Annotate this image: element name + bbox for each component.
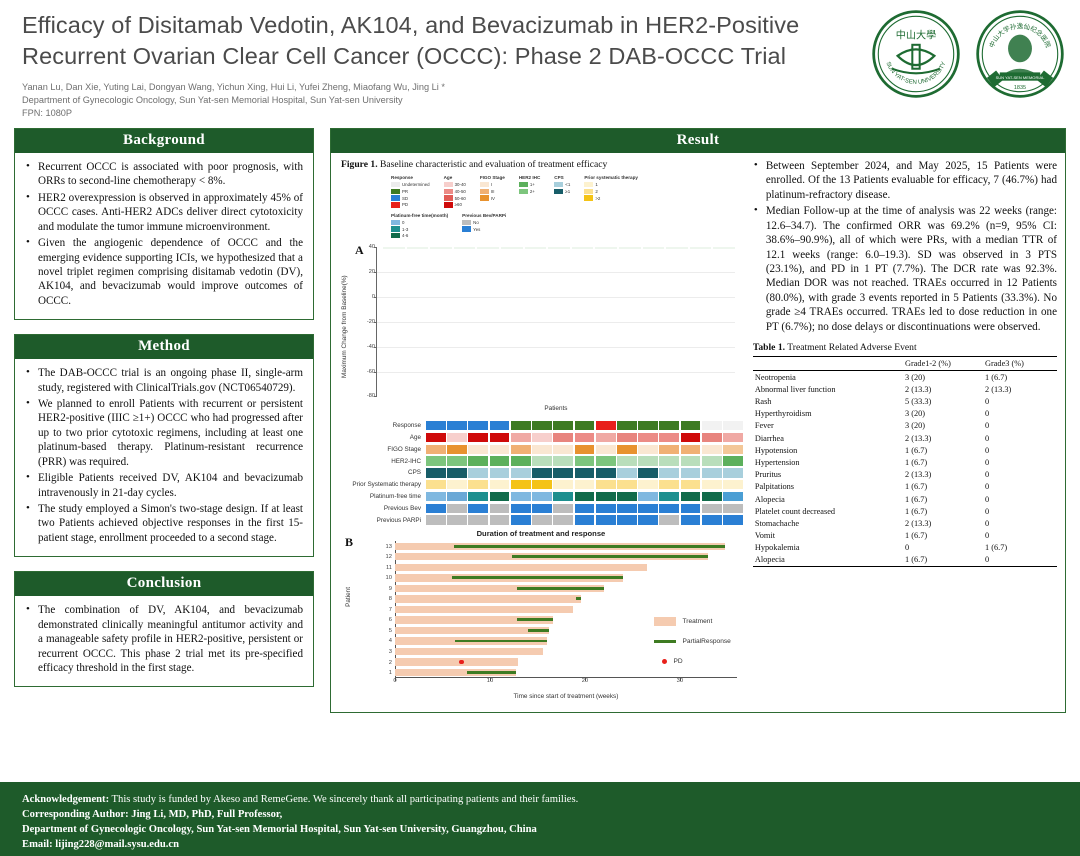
legend-swatch-icon xyxy=(444,195,453,200)
ae-grade3-value: 0 xyxy=(983,444,1057,456)
swimmer-response-bar xyxy=(517,618,553,621)
legend-swatch-icon xyxy=(391,182,400,187)
ae-grade3-value: 0 xyxy=(983,420,1057,432)
waterfall-chart: Maximum Change from Baseline(%) 40200-20… xyxy=(339,243,743,418)
table-row: Alopecia1 (6.7)0 xyxy=(753,554,1057,567)
legend-item: SD xyxy=(391,195,430,201)
legend-swatch-icon xyxy=(584,182,593,187)
legend-item-label: PR xyxy=(402,189,408,194)
legend-item-label: SD xyxy=(402,196,408,201)
ae-grade12-value: 1 (6.7) xyxy=(903,554,983,567)
ae-event-name: Fever xyxy=(753,420,903,432)
heatmap-cell xyxy=(575,456,595,465)
heatmap-cell xyxy=(511,492,531,501)
heatmap-cell xyxy=(490,480,510,489)
heatmap-cell xyxy=(723,504,743,513)
table-row: Stomachache2 (13.3)0 xyxy=(753,517,1057,529)
legend-item: 2+ xyxy=(519,188,540,194)
svg-text:1835: 1835 xyxy=(1014,85,1026,91)
heatmap-cell xyxy=(511,445,531,454)
legend-line-icon xyxy=(654,640,676,643)
heatmap-cells xyxy=(426,515,743,524)
heatmap-cell xyxy=(617,445,637,454)
adverse-event-table-body: Neotropenia3 (20)1 (6.7)Abnormal liver f… xyxy=(753,371,1057,567)
waterfall-y-tick-mark xyxy=(374,272,377,273)
background-panel: Background Recurrent OCCC is associated … xyxy=(14,128,314,320)
heatmap-cell xyxy=(723,515,743,524)
swimmer-lane: 11 xyxy=(395,562,737,573)
legend-item-label: 2 xyxy=(595,189,597,194)
method-bullet-list: The DAB-OCCC trial is an ongoing phase I… xyxy=(25,366,303,545)
poster-header: Efficacy of Disitamab Vedotin, AK104, an… xyxy=(0,0,1080,120)
legend-group-title: Response xyxy=(391,175,430,180)
heatmap-cell xyxy=(511,480,531,489)
ae-grade3-value: 0 xyxy=(983,493,1057,505)
heatmap-cell xyxy=(532,468,552,477)
swimmer-x-axis-label: Time since start of treatment (weeks) xyxy=(395,693,737,700)
heatmap-cell xyxy=(447,515,467,524)
ae-grade12-value: 1 (6.7) xyxy=(903,444,983,456)
heatmap-row-label: Response xyxy=(339,422,426,429)
heatmap-cell xyxy=(490,456,510,465)
legend-group-title: Age xyxy=(444,175,466,180)
heatmap-cell xyxy=(447,421,467,430)
heatmap-cell xyxy=(702,492,722,501)
heatmap-cell xyxy=(447,504,467,513)
heatmap-cell xyxy=(659,468,679,477)
heatmap-cell xyxy=(553,421,573,430)
swimmer-legend-label: PartialResponse xyxy=(682,638,730,645)
result-text-column: Between September 2024, and May 2025, 15… xyxy=(743,159,1057,704)
legend-swatch-icon xyxy=(391,189,400,194)
legend-item-label: Yes xyxy=(473,227,480,232)
heatmap-cell xyxy=(447,480,467,489)
heatmap-cell xyxy=(617,515,637,524)
swimmer-lane: 8 xyxy=(395,594,737,605)
ae-event-name: Abnormal liver function xyxy=(753,383,903,395)
heatmap-cell xyxy=(575,515,595,524)
heatmap-cell xyxy=(638,421,658,430)
heatmap-cell xyxy=(702,515,722,524)
legend-item: ≥60 xyxy=(444,202,466,208)
legend-swatch-icon xyxy=(391,220,400,225)
legend-bar-icon xyxy=(654,617,676,626)
legend-item-label: 40-50 xyxy=(455,189,466,194)
method-panel: Method The DAB-OCCC trial is an ongoing … xyxy=(14,334,314,557)
heatmap-cell xyxy=(617,468,637,477)
heatmap-cell xyxy=(468,445,488,454)
corresponding-author: Corresponding Author: Jing Li, MD, PhD, … xyxy=(22,809,282,820)
legend-item-label: 1+ xyxy=(530,182,535,187)
legend-item-label: 30-40 xyxy=(455,182,466,187)
table-row: Palpitations1 (6.7)0 xyxy=(753,481,1057,493)
heatmap-cell xyxy=(723,492,743,501)
heatmap-cell xyxy=(468,492,488,501)
heatmap-cell xyxy=(532,421,552,430)
heatmap-cell xyxy=(702,468,722,477)
corresponding-email[interactable]: Email: lijing228@mail.sysu.edu.cn xyxy=(22,839,179,850)
legend-item-label: >2 xyxy=(595,196,600,201)
legend-group: ResponseUndeterminedPRSDPD xyxy=(391,175,430,209)
legend-group-title: Previous Bev/PARPi xyxy=(462,213,506,218)
heatmap-row: Previous PARPi xyxy=(339,515,743,526)
waterfall-y-tick-label: 20 xyxy=(357,269,375,275)
heatmap-cell xyxy=(532,504,552,513)
heatmap-cell xyxy=(511,433,531,442)
heatmap-cell xyxy=(575,504,595,513)
heatmap-row: Age xyxy=(339,432,743,443)
legend-group: FIGO StageIIIIIV xyxy=(480,175,505,209)
heatmap-cell xyxy=(511,504,531,513)
table-caption: Table 1. Treatment Related Adverse Event xyxy=(753,342,1057,353)
ae-grade3-value: 0 xyxy=(983,530,1057,542)
heatmap-row-label: HER2-IHC xyxy=(339,458,426,465)
legend-swatch-icon xyxy=(444,189,453,194)
heatmap-cell xyxy=(447,456,467,465)
heatmap-row-label: Previous Bev xyxy=(339,505,426,512)
heatmap-cell xyxy=(659,480,679,489)
legend-swatch-icon xyxy=(480,195,489,200)
heatmap-cell xyxy=(426,468,446,477)
legend-swatch-icon xyxy=(519,182,528,187)
table-row: Hypotension1 (6.7)0 xyxy=(753,444,1057,456)
table-row: Abnormal liver function2 (13.3)2 (13.3) xyxy=(753,383,1057,395)
list-item: Recurrent OCCC is associated with poor p… xyxy=(25,160,303,189)
swimmer-response-bar xyxy=(528,629,549,632)
ae-grade12-value: 2 (13.3) xyxy=(903,469,983,481)
heatmap-cells xyxy=(426,504,743,513)
table-row: Diarrhea2 (13.3)0 xyxy=(753,432,1057,444)
adverse-event-table: Grade1-2 (%) Grade3 (%) Neotropenia3 (20… xyxy=(753,356,1057,567)
heatmap-cell xyxy=(596,445,616,454)
swimmer-y-tick-label: 2 xyxy=(389,660,392,666)
list-item: The study employed a Simon's two-stage d… xyxy=(25,502,303,545)
legend-item: 2 xyxy=(584,188,638,194)
heatmap-cell xyxy=(723,480,743,489)
legend-item: 1 xyxy=(584,182,638,188)
conclusion-heading: Conclusion xyxy=(15,572,313,596)
heatmap-cell xyxy=(702,445,722,454)
waterfall-gridline xyxy=(377,347,735,348)
svg-text:中山大學: 中山大學 xyxy=(896,28,936,41)
background-heading: Background xyxy=(15,129,313,153)
ae-event-name: Diarrhea xyxy=(753,432,903,444)
legend-group-title: Prior systematic therapy xyxy=(584,175,638,180)
heatmap-cell xyxy=(532,492,552,501)
heatmap-cell xyxy=(638,468,658,477)
legend-group-title: HER2 IHC xyxy=(519,175,540,180)
heatmap-cell xyxy=(681,445,701,454)
waterfall-gridline xyxy=(377,322,735,323)
heatmap-cell xyxy=(468,433,488,442)
swimmer-x-tick-label: 30 xyxy=(677,678,683,684)
ae-grade12-value: 2 (13.3) xyxy=(903,383,983,395)
ae-grade12-value: 1 (6.7) xyxy=(903,505,983,517)
heatmap-cell xyxy=(659,504,679,513)
heatmap-cell xyxy=(702,480,722,489)
ae-grade12-value: 1 (6.7) xyxy=(903,456,983,468)
heatmap-cell xyxy=(490,445,510,454)
legend-item-label: IV xyxy=(491,196,495,201)
legend-group-title: Platinum-free time(month) xyxy=(391,213,448,218)
heatmap-cell xyxy=(723,468,743,477)
waterfall-y-tick-label: -40 xyxy=(357,344,375,350)
heatmap-cell xyxy=(553,456,573,465)
legend-item-label: ≥1 xyxy=(565,189,570,194)
waterfall-gridline xyxy=(377,297,735,298)
heatmap-row-label: Prior Systematic therapy xyxy=(339,481,426,488)
ae-event-name: Alopecia xyxy=(753,554,903,567)
legend-item: PR xyxy=(391,188,430,194)
legend-swatch-icon xyxy=(444,202,453,207)
waterfall-gridline xyxy=(377,272,735,273)
ae-grade3-value: 0 xyxy=(983,408,1057,420)
figure-column: Figure 1. Baseline characteristic and ev… xyxy=(339,159,743,704)
heatmap-row: HER2-IHC xyxy=(339,456,743,467)
swimmer-legend-item: PD xyxy=(654,651,730,671)
list-item: We planned to enroll Patients with recur… xyxy=(25,397,303,469)
conclusion-bullet-list: The combination of DV, AK104, and bevaci… xyxy=(25,603,303,675)
legend-item-label: 2+ xyxy=(530,189,535,194)
list-item: Between September 2024, and May 2025, 15… xyxy=(753,159,1057,202)
ae-grade3-value: 0 xyxy=(983,469,1057,481)
swimmer-chart: Patient 123456789101112130102030 Treatme… xyxy=(339,539,743,704)
ae-grade12-value: 1 (6.7) xyxy=(903,493,983,505)
swimmer-y-tick-label: 9 xyxy=(389,586,392,592)
ae-event-name: Hypokalemia xyxy=(753,542,903,554)
waterfall-y-tick-mark xyxy=(374,322,377,323)
ae-grade3-value: 0 xyxy=(983,432,1057,444)
list-item: Median Follow-up at the time of analysis… xyxy=(753,204,1057,334)
legend-item: No xyxy=(462,219,506,225)
legend-item: Yes xyxy=(462,226,506,232)
figure-caption-label: Figure 1. xyxy=(341,159,378,170)
legend-item: 1+ xyxy=(519,182,540,188)
legend-group: CPS<1≥1 xyxy=(554,175,570,209)
ae-grade12-value: 2 (13.3) xyxy=(903,432,983,444)
swimmer-response-bar xyxy=(455,640,547,643)
heatmap-cell xyxy=(681,492,701,501)
swimmer-y-tick-label: 6 xyxy=(389,617,392,623)
result-heading: Result xyxy=(331,129,1065,153)
heatmap-cell xyxy=(723,433,743,442)
waterfall-gridline xyxy=(377,372,735,373)
list-item: The combination of DV, AK104, and bevaci… xyxy=(25,603,303,675)
heatmap-cell xyxy=(468,515,488,524)
legend-item: 50-60 xyxy=(444,195,466,201)
waterfall-y-tick-mark xyxy=(374,247,377,248)
heatmap-cell xyxy=(553,433,573,442)
heatmap-cell xyxy=(575,445,595,454)
legend-item: 0 xyxy=(391,219,448,225)
waterfall-y-tick-label: -80 xyxy=(357,393,375,399)
heatmap-cell xyxy=(490,492,510,501)
swimmer-x-tick-label: 0 xyxy=(393,678,396,684)
heatmap-cell xyxy=(617,433,637,442)
swimmer-y-tick-label: 8 xyxy=(389,596,392,602)
legend-swatch-icon xyxy=(554,189,563,194)
heatmap-cell xyxy=(553,468,573,477)
heatmap-cell xyxy=(426,445,446,454)
corresponding-department: Department of Gynecologic Oncology, Sun … xyxy=(22,824,537,835)
heatmap-cell xyxy=(681,515,701,524)
figure-caption: Figure 1. Baseline characteristic and ev… xyxy=(341,159,743,170)
heatmap-cell xyxy=(511,456,531,465)
legend-item: III xyxy=(480,188,505,194)
heatmap-cell xyxy=(426,433,446,442)
heatmap-cell xyxy=(659,433,679,442)
swimmer-y-tick-label: 1 xyxy=(389,670,392,676)
legend-swatch-icon xyxy=(391,233,400,238)
heatmap-cell xyxy=(659,515,679,524)
heatmap-cell xyxy=(511,515,531,524)
swimmer-x-tick-label: 20 xyxy=(582,678,588,684)
heatmap-row-label: Previous PARPi xyxy=(339,517,426,524)
table-header-row: Grade1-2 (%) Grade3 (%) xyxy=(753,357,1057,371)
swimmer-response-bar xyxy=(452,576,623,579)
heatmap-cell xyxy=(638,515,658,524)
ae-grade12-value: 3 (20) xyxy=(903,371,983,384)
poster-footer: Acknowledgement: This study is funded by… xyxy=(0,782,1080,856)
sun-yat-sen-memorial-hospital-seal-icon: SUN YAT-SEN MEMORIAL 1835 中山大学孙逸仙纪念医院 xyxy=(974,8,1066,100)
ae-grade12-value: 1 (6.7) xyxy=(903,481,983,493)
table-row: Fever3 (20)0 xyxy=(753,420,1057,432)
legend-swatch-icon xyxy=(554,182,563,187)
swimmer-treatment-bar xyxy=(395,564,647,571)
table-row: Hypokalemia01 (6.7) xyxy=(753,542,1057,554)
legend-item-label: I xyxy=(491,182,492,187)
heatmap-row: Response xyxy=(339,420,743,431)
swimmer-lane: 12 xyxy=(395,552,737,563)
heatmap-cell xyxy=(638,433,658,442)
heatmap-cell xyxy=(681,421,701,430)
waterfall-plot-area: 40200-20-40-60-80 xyxy=(377,247,735,396)
swimmer-y-tick-label: 7 xyxy=(389,607,392,613)
swimmer-y-tick-label: 10 xyxy=(386,575,392,581)
heatmap-cell xyxy=(447,445,467,454)
swimmer-y-tick-label: 13 xyxy=(386,544,392,550)
heatmap-cell xyxy=(596,504,616,513)
heatmap-row: Platinum-free time xyxy=(339,491,743,502)
legend-row-primary: ResponseUndeterminedPRSDPDAge30-4040-505… xyxy=(391,175,743,209)
heatmap-cell xyxy=(553,480,573,489)
ae-grade12-value: 2 (13.3) xyxy=(903,517,983,529)
svg-text:SUN YAT-SEN MEMORIAL: SUN YAT-SEN MEMORIAL xyxy=(996,75,1046,80)
heatmap-cell xyxy=(596,421,616,430)
ae-grade3-value: 1 (6.7) xyxy=(983,542,1057,554)
page-title: Efficacy of Disitamab Vedotin, AK104, an… xyxy=(22,10,852,71)
legend-item-label: 4-6 xyxy=(402,233,408,238)
heatmap-cell xyxy=(553,504,573,513)
swimmer-y-axis-label: Patient xyxy=(345,587,352,607)
swimmer-y-tick-label: 3 xyxy=(389,649,392,655)
table-row: Rash5 (33.3)0 xyxy=(753,395,1057,407)
heatmap-row-label: CPS xyxy=(339,469,426,476)
heatmap-cell xyxy=(532,445,552,454)
heatmap-cell xyxy=(532,515,552,524)
heatmap-row: CPS xyxy=(339,468,743,479)
heatmap-cell xyxy=(553,515,573,524)
ae-grade3-value: 0 xyxy=(983,517,1057,529)
legend-swatch-icon xyxy=(480,189,489,194)
heatmap-cell xyxy=(617,421,637,430)
legend-group-title: CPS xyxy=(554,175,570,180)
swimmer-lane: 10 xyxy=(395,573,737,584)
heatmap-cell xyxy=(553,445,573,454)
heatmap-row: FIGO Stage xyxy=(339,444,743,455)
legend-item-label: PD xyxy=(402,202,408,207)
swimmer-y-tick-label: 11 xyxy=(386,565,392,571)
table-row: Alopecia1 (6.7)0 xyxy=(753,493,1057,505)
heatmap-cell xyxy=(659,492,679,501)
ae-event-name: Palpitations xyxy=(753,481,903,493)
swimmer-response-bar xyxy=(517,587,604,590)
heatmap-cell xyxy=(426,421,446,430)
heatmap-cell xyxy=(702,456,722,465)
swimmer-response-bar xyxy=(576,597,581,600)
heatmap-cell xyxy=(511,421,531,430)
result-bullet-list: Between September 2024, and May 2025, 15… xyxy=(753,159,1057,334)
heatmap-cell xyxy=(468,421,488,430)
heatmap-cell xyxy=(596,433,616,442)
background-bullet-list: Recurrent OCCC is associated with poor p… xyxy=(25,160,303,308)
swimmer-legend-label: PD xyxy=(673,658,682,665)
legend-swatch-icon xyxy=(584,189,593,194)
swimmer-y-tick-label: 12 xyxy=(386,554,392,560)
heatmap-cells xyxy=(426,492,743,501)
heatmap-cell xyxy=(490,468,510,477)
swimmer-response-bar xyxy=(512,555,709,558)
heatmap-row: Prior Systematic therapy xyxy=(339,479,743,490)
legend-item: ≥1 xyxy=(554,188,570,194)
ae-grade3-value: 0 xyxy=(983,505,1057,517)
ae-grade3-value: 0 xyxy=(983,395,1057,407)
heatmap-cell xyxy=(702,433,722,442)
legend-item: IV xyxy=(480,195,505,201)
heatmap-cell xyxy=(596,480,616,489)
legend-item: 4-6 xyxy=(391,233,448,239)
heatmap-cell xyxy=(532,480,552,489)
ae-event-name: Hypertension xyxy=(753,456,903,468)
heatmap-row: Previous Bev xyxy=(339,503,743,514)
waterfall-y-tick-mark xyxy=(374,396,377,397)
legend-group: Prior systematic therapy12>2 xyxy=(584,175,638,209)
ae-event-name: Hyperthyroidism xyxy=(753,408,903,420)
acknowledgement-label: Acknowledgement: xyxy=(22,794,109,805)
legend-item: I xyxy=(480,182,505,188)
swimmer-y-tick-label: 4 xyxy=(389,638,392,644)
legend-item-label: III xyxy=(491,189,495,194)
heatmap-row-label: Platinum-free time xyxy=(339,493,426,500)
heatmap-cell xyxy=(723,421,743,430)
heatmap-cell xyxy=(681,468,701,477)
legend-group: Age30-4040-5050-60≥60 xyxy=(444,175,466,209)
heatmap-cell xyxy=(596,515,616,524)
waterfall-y-tick-label: -60 xyxy=(357,369,375,375)
heatmap-cell xyxy=(702,421,722,430)
ae-grade3-value: 2 (13.3) xyxy=(983,383,1057,395)
ae-grade3-value: 1 (6.7) xyxy=(983,371,1057,384)
legend-dot-icon xyxy=(662,659,667,664)
heatmap-cells xyxy=(426,421,743,430)
acknowledgement-line: Acknowledgement: This study is funded by… xyxy=(22,792,1080,807)
sun-yat-sen-university-seal-icon: 中山大學 SUN YAT-SEN UNIVERSITY xyxy=(870,8,962,100)
swimmer-lane: 13 xyxy=(395,541,737,552)
table-row: Pruritus2 (13.3)0 xyxy=(753,469,1057,481)
heatmap-cell xyxy=(575,421,595,430)
swimmer-legend-item: Treatment xyxy=(654,611,730,631)
fpn-code: FPN: 1080P xyxy=(22,107,1080,120)
